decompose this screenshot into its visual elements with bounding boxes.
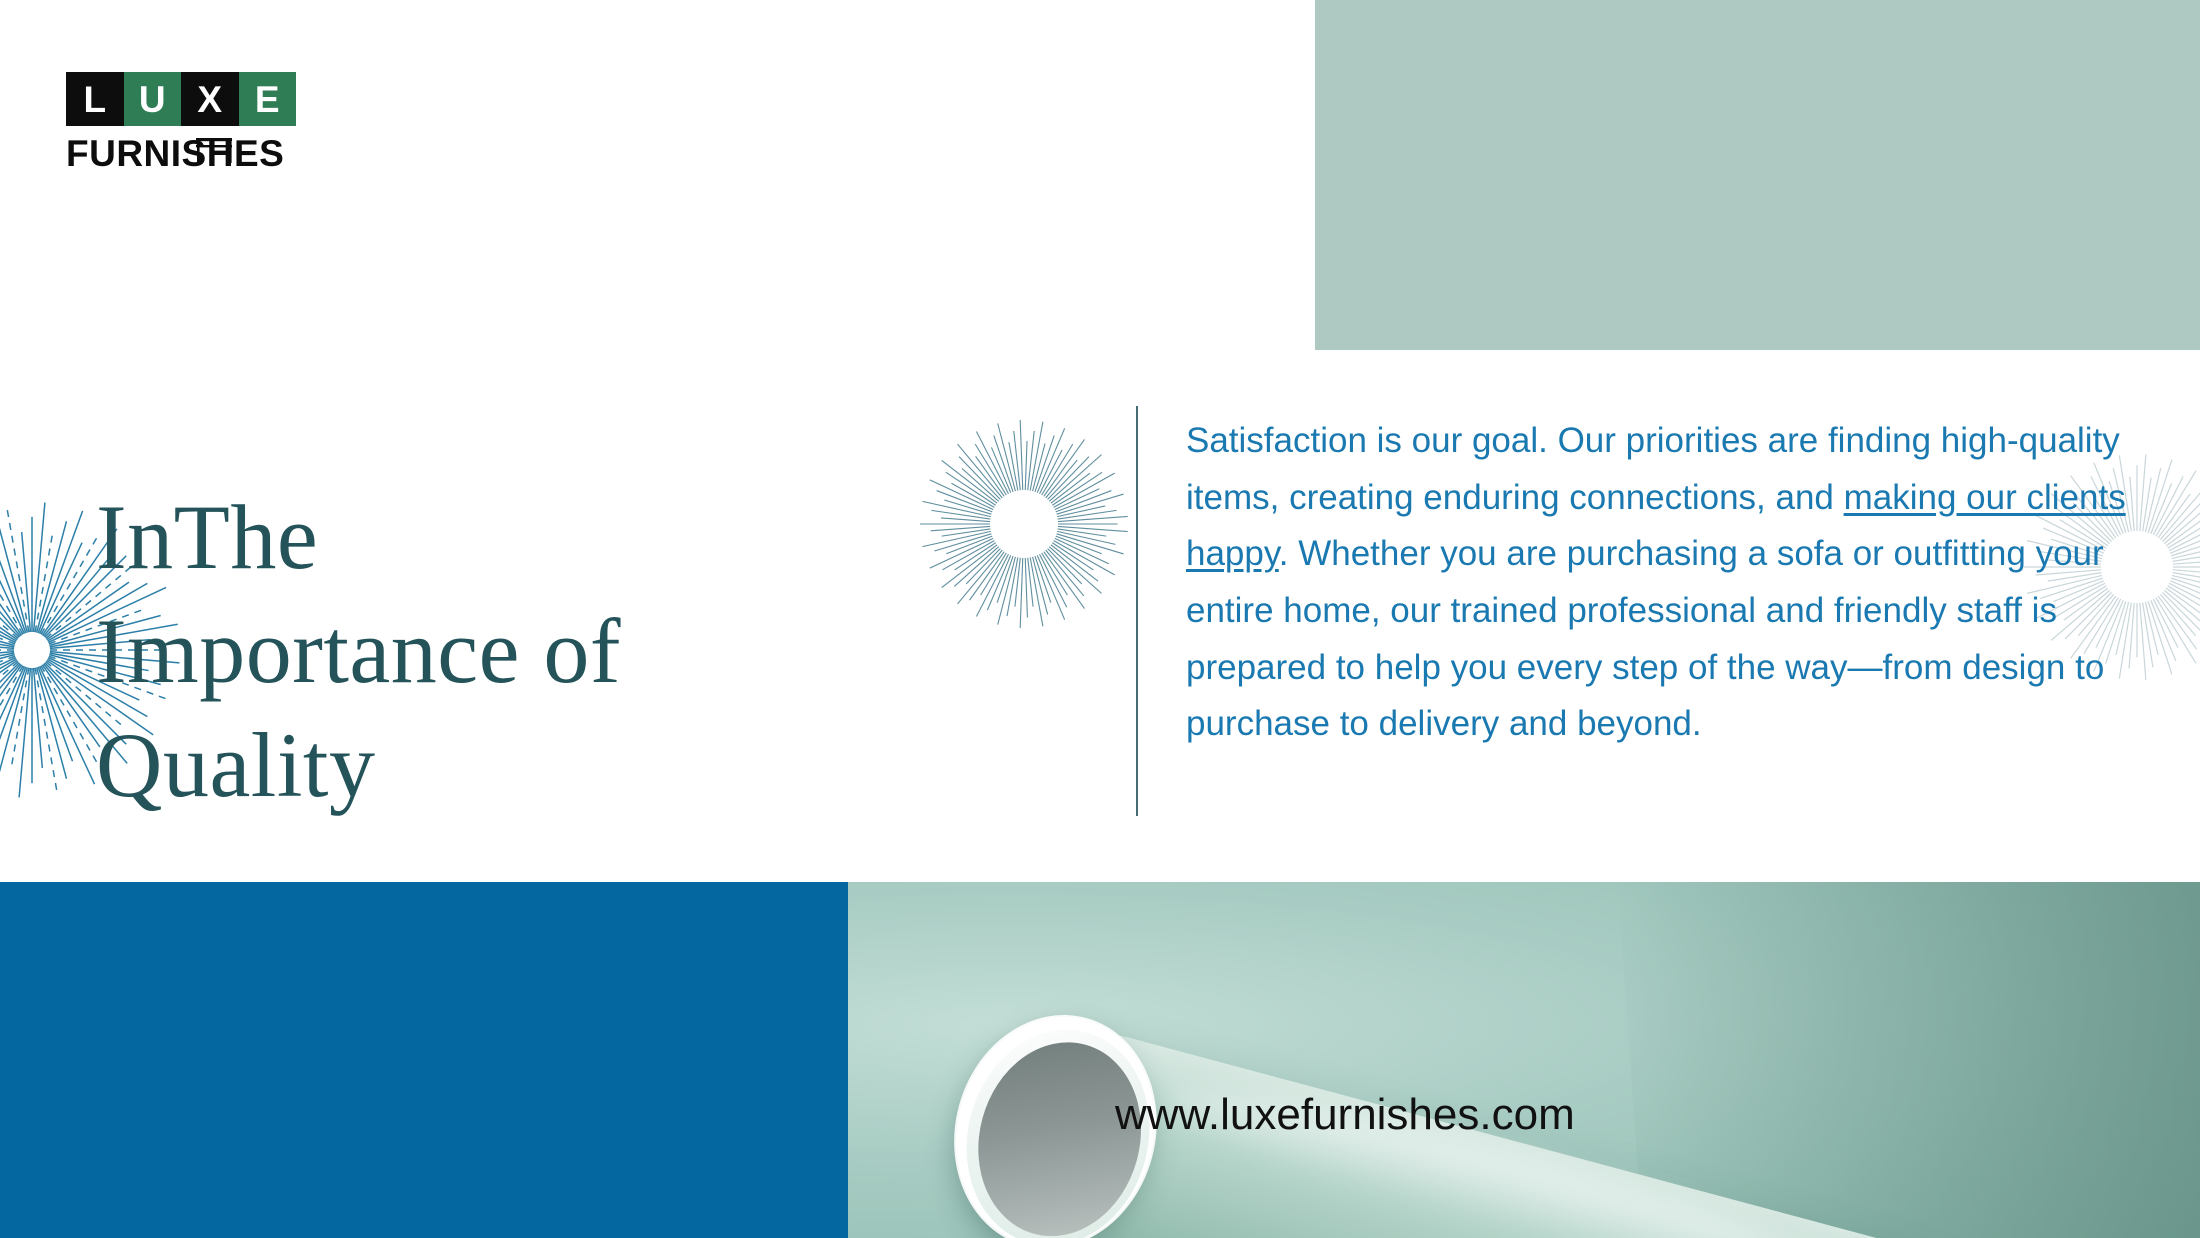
vertical-divider — [1136, 406, 1138, 816]
logo-letter-boxes: L U X E — [66, 72, 296, 126]
headline-line-2: Importance of — [96, 594, 1056, 708]
logo-letter-x: X — [181, 72, 239, 126]
logo-letter-l: L — [66, 72, 124, 126]
logo-letter-u: U — [124, 72, 182, 126]
headline-line-3: Quality — [96, 708, 1056, 822]
logo-letter-e: E — [239, 72, 297, 126]
blue-accent-block — [0, 882, 848, 1238]
photo-shadow — [1614, 882, 2200, 1238]
body-text-part-2: . Whether you are purchasing a sofa or o… — [1186, 534, 2104, 743]
poster-canvas: L U X E FURNISHES InThe Importance of Qu… — [0, 0, 2200, 1238]
sage-accent-block — [1315, 0, 2200, 350]
headline-line-1: InThe — [96, 480, 1056, 594]
brand-logo[interactable]: L U X E FURNISHES — [66, 72, 306, 172]
body-paragraph: Satisfaction is our goal. Our priorities… — [1186, 413, 2171, 753]
logo-wordmark-text: FURNISHES — [66, 133, 284, 174]
vase-photo — [848, 882, 2200, 1238]
page-title: InThe Importance of Quality — [96, 480, 1056, 822]
website-url[interactable]: www.luxefurnishes.com — [1115, 1090, 1575, 1140]
logo-wordmark: FURNISHES — [66, 135, 306, 172]
